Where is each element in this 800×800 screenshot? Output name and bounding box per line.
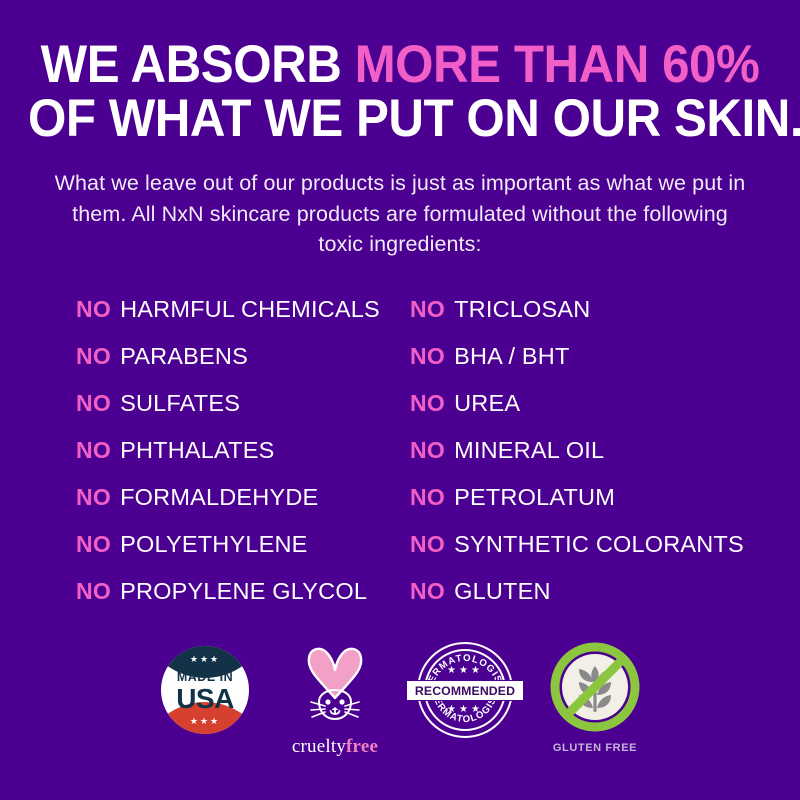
no-tag: NO: [410, 484, 445, 511]
list-item: NOPARABENS: [76, 333, 410, 380]
no-tag: NO: [76, 296, 111, 323]
list-item: NOTRICLOSAN: [410, 286, 780, 333]
made-in-usa-icon: ★★★ MADE IN USA ★★★: [161, 646, 249, 734]
no-tag: NO: [76, 484, 111, 511]
ingredient-label: SULFATES: [120, 390, 240, 417]
made-in-usa-badge: ★★★ MADE IN USA ★★★: [151, 636, 259, 768]
headline-line-1: WE ABSORB MORE THAN 60%: [28, 38, 772, 92]
gluten-free-label: GLUTEN FREE: [553, 742, 637, 754]
no-tag: NO: [76, 390, 111, 417]
dermatologist-stamp-icon: DERMATOLOGIST DERMATOLOGIST ★★★ ★★★ RECO…: [417, 642, 513, 738]
list-item: NOPROPYLENE GLYCOL: [76, 568, 410, 615]
free-from-list: NOHARMFUL CHEMICALS NOPARABENS NOSULFATE…: [0, 286, 800, 615]
cruelty-free-badge: crueltyfree: [281, 636, 389, 768]
gluten-free-icon: [548, 640, 642, 734]
usa-stars-top-icon: ★★★: [161, 655, 249, 664]
usa-stars-bottom-icon: ★★★: [161, 717, 249, 726]
badge-row: ★★★ MADE IN USA ★★★ crueltyfree: [0, 636, 800, 776]
ingredient-label: FORMALDEHYDE: [120, 484, 318, 511]
list-item: NOPHTHALATES: [76, 427, 410, 474]
list-item: NOHARMFUL CHEMICALS: [76, 286, 410, 333]
stamp-stars-bottom-icon: ★★★: [417, 705, 513, 715]
ingredient-label: PROPYLENE GLYCOL: [120, 578, 367, 605]
free-word: free: [346, 736, 378, 757]
list-column-left: NOHARMFUL CHEMICALS NOPARABENS NOSULFATE…: [76, 286, 410, 615]
list-item: NOPOLYETHYLENE: [76, 521, 410, 568]
no-tag: NO: [410, 437, 445, 464]
dermatologist-recommended-badge: DERMATOLOGIST DERMATOLOGIST ★★★ ★★★ RECO…: [411, 636, 519, 768]
no-tag: NO: [410, 390, 445, 417]
bunny-heart-icon: [289, 640, 381, 736]
list-column-right: NOTRICLOSAN NOBHA / BHT NOUREA NOMINERAL…: [410, 286, 780, 615]
no-tag: NO: [76, 578, 111, 605]
ingredient-label: BHA / BHT: [454, 343, 569, 370]
ingredient-label: SYNTHETIC COLORANTS: [454, 531, 744, 558]
list-item: NOFORMALDEHYDE: [76, 474, 410, 521]
list-item: NOBHA / BHT: [410, 333, 780, 380]
list-item: NOMINERAL OIL: [410, 427, 780, 474]
stamp-stars-top-icon: ★★★: [417, 666, 513, 676]
ingredient-label: PHTHALATES: [120, 437, 274, 464]
ingredient-label: TRICLOSAN: [454, 296, 590, 323]
headline-white-part: WE ABSORB: [41, 35, 355, 94]
no-tag: NO: [410, 531, 445, 558]
list-item: NOUREA: [410, 380, 780, 427]
no-tag: NO: [410, 578, 445, 605]
ingredient-label: MINERAL OIL: [454, 437, 604, 464]
ingredient-label: UREA: [454, 390, 520, 417]
recommended-banner: RECOMMENDED: [406, 680, 524, 701]
ingredient-label: PARABENS: [120, 343, 248, 370]
gluten-free-badge: GLUTEN FREE: [541, 636, 649, 768]
ingredient-label: POLYETHYLENE: [120, 531, 307, 558]
cruelty-word: cruelty: [292, 736, 346, 757]
ingredient-label: HARMFUL CHEMICALS: [120, 296, 380, 323]
headline-pink-part: MORE THAN 60%: [355, 35, 760, 94]
recommended-label: RECOMMENDED: [415, 684, 515, 698]
ingredient-label: GLUTEN: [454, 578, 551, 605]
usa-made-in-label: MADE IN: [177, 670, 233, 684]
no-tag: NO: [76, 437, 111, 464]
no-tag: NO: [410, 296, 445, 323]
no-tag: NO: [76, 343, 111, 370]
list-item: NOGLUTEN: [410, 568, 780, 615]
list-item: NOSYNTHETIC COLORANTS: [410, 521, 780, 568]
cruelty-free-label: crueltyfree: [292, 737, 378, 756]
ingredient-label: PETROLATUM: [454, 484, 615, 511]
no-tag: NO: [410, 343, 445, 370]
headline-line-2: OF WHAT WE PUT ON OUR SKIN.: [28, 92, 772, 146]
list-item: NOSULFATES: [76, 380, 410, 427]
usa-label: USA: [176, 685, 234, 713]
intro-paragraph: What we leave out of our products is jus…: [50, 168, 750, 260]
list-item: NOPETROLATUM: [410, 474, 780, 521]
no-tag: NO: [76, 531, 111, 558]
headline: WE ABSORB MORE THAN 60% OF WHAT WE PUT O…: [0, 0, 800, 146]
